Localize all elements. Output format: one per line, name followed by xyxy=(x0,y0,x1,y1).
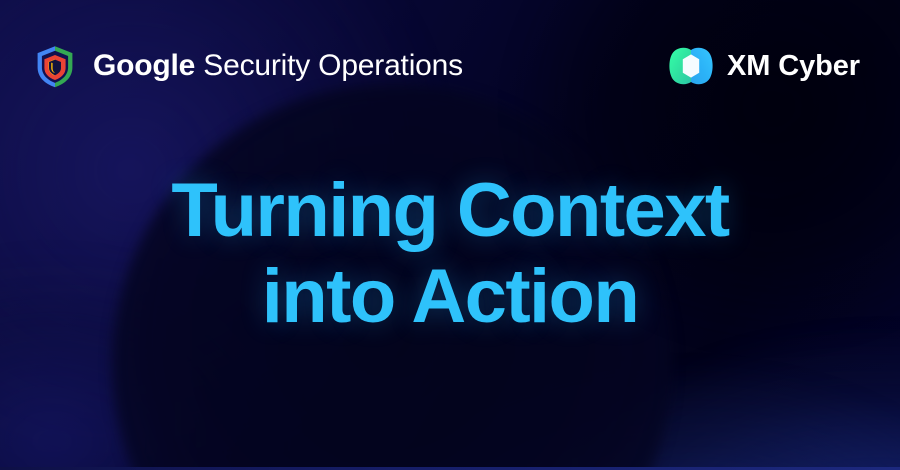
google-security-operations-logo: Google Security Operations xyxy=(34,44,463,89)
xm-cyber-logo: XM Cyber xyxy=(669,47,860,85)
brand-word-google: Google xyxy=(93,49,195,82)
title-line-1: Turning Context xyxy=(0,168,900,254)
xm-cyber-label: XM Cyber xyxy=(727,52,860,81)
title-line-2: into Action xyxy=(0,254,900,340)
brand-words-security-operations: Security Operations xyxy=(195,49,463,82)
slide-header: Google Security Operations xyxy=(0,40,900,92)
slide-title: Turning Context into Action xyxy=(0,168,900,340)
xm-cyber-logo-icon xyxy=(669,47,713,85)
presentation-slide: Google Security Operations xyxy=(0,0,900,470)
google-security-operations-label: Google Security Operations xyxy=(93,51,463,81)
google-security-operations-shield-icon xyxy=(34,44,76,89)
